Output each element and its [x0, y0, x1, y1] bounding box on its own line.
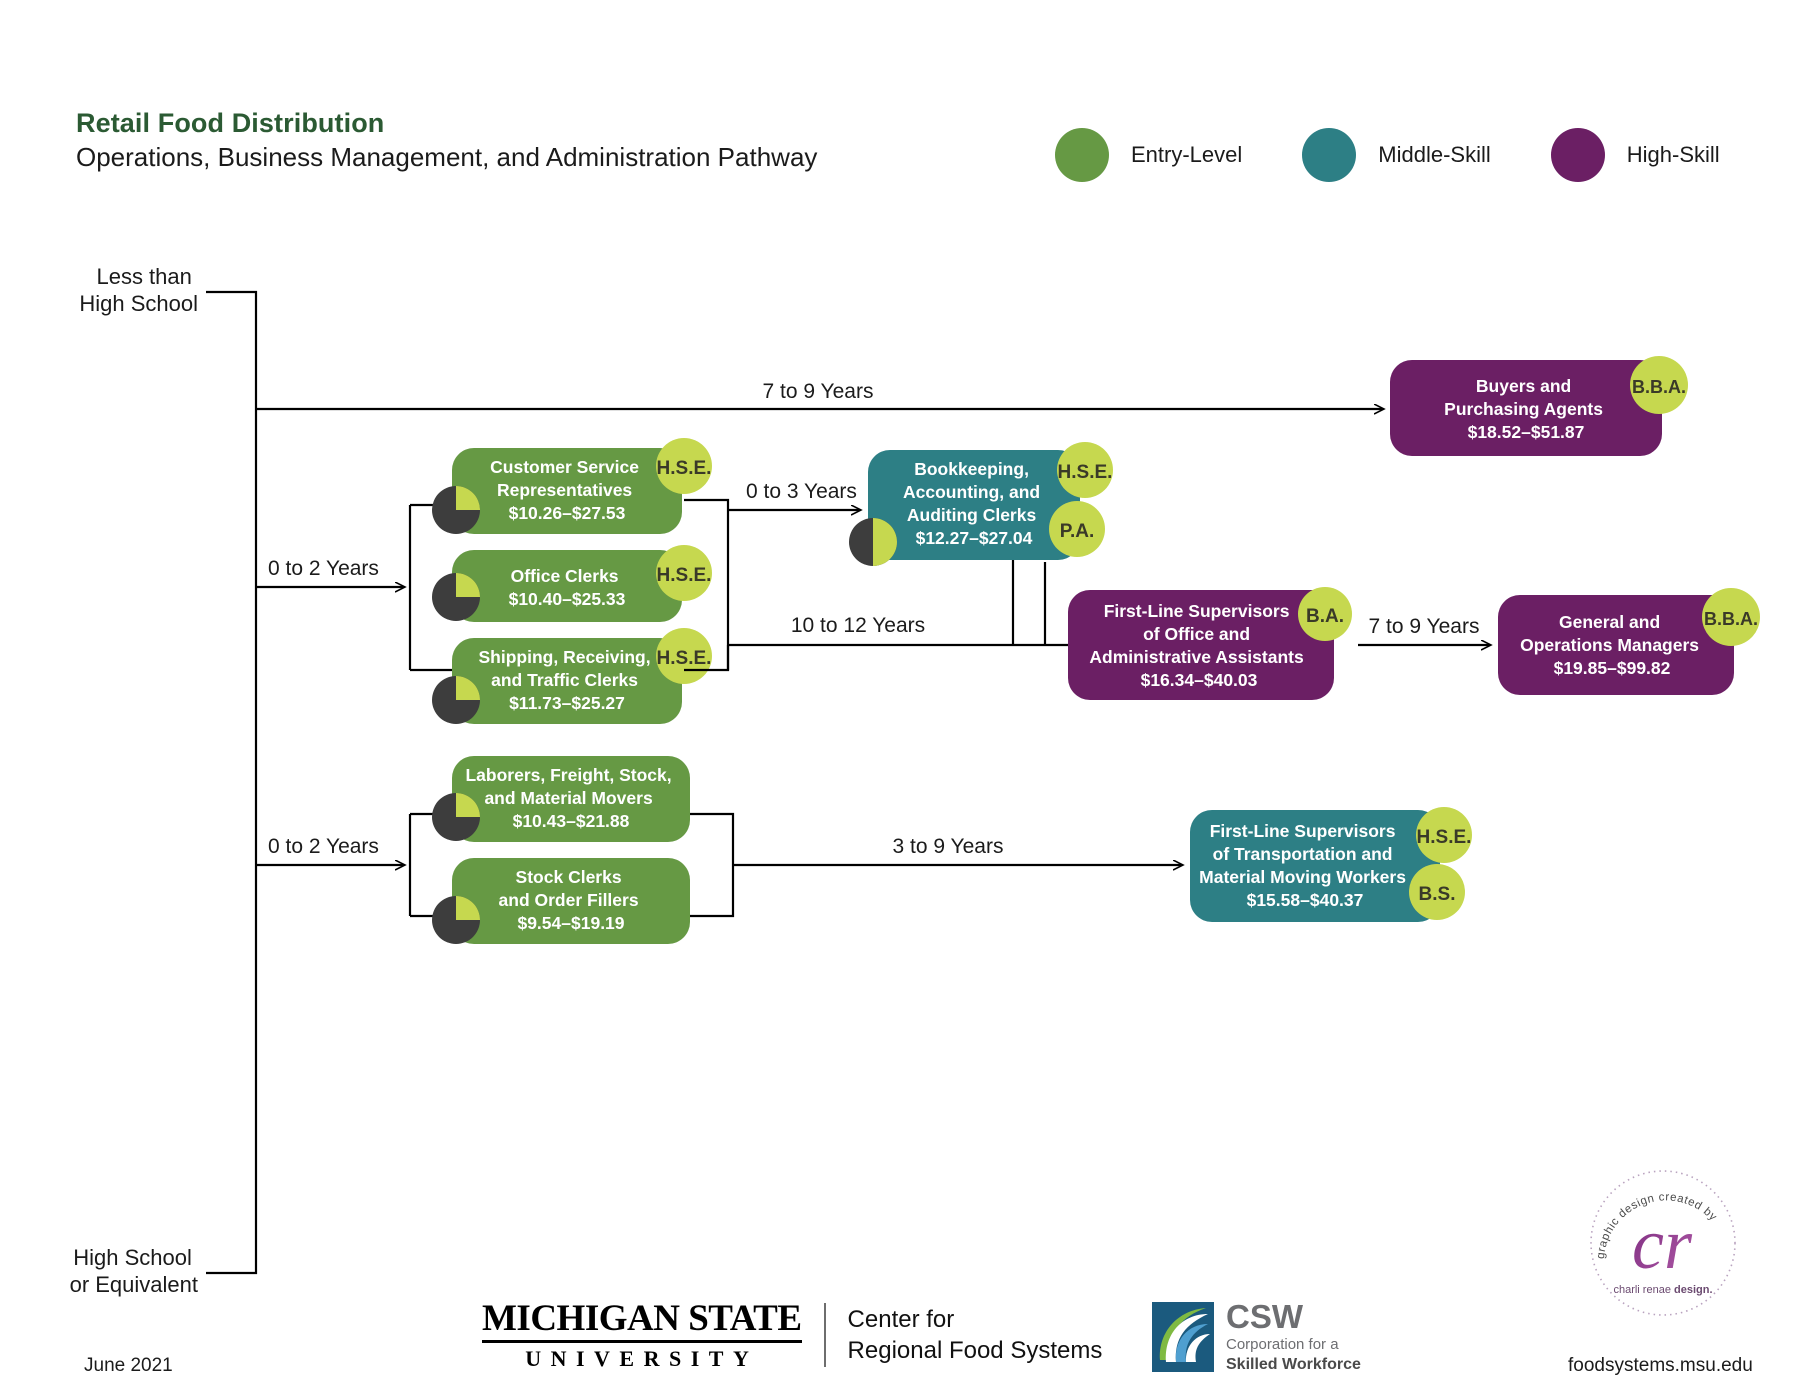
edge-less-than-hs-to-buyers: 7 to 9 Years	[256, 380, 1383, 409]
badge-label-hse-customer-service-representatives: H.S.E.	[657, 458, 712, 479]
designer-name: charli renae design.	[1613, 1284, 1712, 1296]
education-label-high-school-or-equivalent: High School or Equivalent	[70, 1245, 198, 1297]
badge-label-pa-bookkeeping: P.A.	[1060, 521, 1095, 542]
node-first-line-supervisors-of-transportation-and-material-moving-workers[interactable]: H.S.E. B.S. First-Line Supervisors of Tr…	[1190, 807, 1472, 922]
csw-logo: CSW Corporation for a Skilled Workforce	[1152, 1300, 1361, 1374]
page-title: Retail Food Distribution	[76, 108, 817, 139]
pie-chart-bookkeeping-accounting-and-auditing-clerks	[849, 518, 897, 566]
edge-label-0-to-2-years-lower: 0 to 2 Years	[268, 835, 379, 858]
pie-chart-laborers-freight-stock-and-material-movers	[432, 793, 480, 841]
node-stock-clerks-and-order-fillers[interactable]: Stock Clerks and Order Fillers $9.54–$19…	[432, 858, 690, 944]
node-shipping-receiving-and-traffic-clerks[interactable]: H.S.E. Shipping, Receiving, and Traffic …	[432, 628, 712, 724]
legend-label-entry-level: Entry-Level	[1131, 142, 1242, 168]
pathway-infographic: Retail Food Distribution Operations, Bus…	[0, 0, 1812, 1392]
badge-label-bba-gom: B.B.A.	[1704, 609, 1758, 629]
csw-tagline-line1: Corporation for a	[1226, 1336, 1361, 1355]
crfs-name: Center for Regional Food Systems	[848, 1304, 1103, 1366]
badge-label-hse-shipping-receiving-and-traffic-clerks: H.S.E.	[657, 648, 712, 669]
msu-logo: MICHIGAN STATE UNIVERSITY Center for Reg…	[482, 1300, 1102, 1370]
legend-label-high-skill: High-Skill	[1627, 142, 1720, 168]
page-subtitle: Operations, Business Management, and Adm…	[76, 143, 817, 173]
node-label-stock-clerks-and-order-fillers: Stock Clerks and Order Fillers $9.54–$19…	[499, 867, 644, 933]
node-general-and-operations-managers[interactable]: B.B.A. General and Operations Managers $…	[1498, 588, 1760, 695]
education-label-less-than-high-school: Less than High School	[79, 264, 198, 316]
pie-chart-shipping-receiving-and-traffic-clerks	[432, 676, 480, 724]
footer-date: June 2021	[84, 1355, 173, 1377]
legend-label-middle-skill: Middle-Skill	[1378, 142, 1490, 168]
badge-label-bs-flst: B.S.	[1419, 884, 1456, 905]
edge-education-to-lower-entry: 0 to 2 Years	[256, 835, 404, 865]
node-customer-service-representatives[interactable]: H.S.E. Customer Service Representatives …	[432, 438, 712, 534]
msu-wordmark-bottom: UNIVERSITY	[482, 1343, 802, 1370]
edge-label-10-to-12-years: 10 to 12 Years	[791, 614, 925, 637]
badge-label-hse-office-clerks: H.S.E.	[657, 565, 712, 586]
node-office-clerks[interactable]: H.S.E. Office Clerks $10.40–$25.33	[432, 545, 712, 622]
designer-monogram: cr	[1632, 1204, 1693, 1284]
badge-label-hse-flst: H.S.E.	[1417, 827, 1472, 848]
page-header: Retail Food Distribution Operations, Bus…	[76, 108, 817, 173]
badge-label-hse-bookkeeping: H.S.E.	[1058, 462, 1113, 483]
node-first-line-supervisors-of-office-and-administrative-assistants[interactable]: B.A. First-Line Supervisors of Office an…	[1068, 587, 1352, 700]
msu-wordmark-top: MICHIGAN STATE	[482, 1300, 802, 1343]
career-pathway-diagram: Less than High School High School or Equ…	[0, 170, 1812, 1350]
edge-label-7-to-9-years-buyers: 7 to 9 Years	[763, 380, 874, 403]
node-bookkeeping-accounting-and-auditing-clerks[interactable]: H.S.E. P.A. Bookkeeping, Accounting, and…	[849, 442, 1113, 566]
edge-label-0-to-2-years-upper: 0 to 2 Years	[268, 557, 379, 580]
csw-abbreviation: CSW	[1226, 1300, 1361, 1333]
badge-label-bba-buyers: B.B.A.	[1632, 377, 1686, 397]
csw-swirl-icon	[1152, 1302, 1214, 1372]
node-laborers-freight-stock-and-material-movers[interactable]: Laborers, Freight, Stock, and Material M…	[432, 756, 690, 842]
node-label-customer-service-representatives: Customer Service Representatives $10.26–…	[490, 457, 644, 523]
edge-education-to-upper-entry: 0 to 2 Years	[256, 557, 404, 587]
footer-url[interactable]: foodsystems.msu.edu	[1568, 1355, 1753, 1377]
edge-label-7-to-9-years-gom: 7 to 9 Years	[1369, 615, 1480, 638]
csw-tagline-line2: Skilled Workforce	[1226, 1355, 1361, 1374]
node-buyers-and-purchasing-agents[interactable]: B.B.A. Buyers and Purchasing Agents $18.…	[1390, 356, 1688, 456]
edge-label-3-to-9-years: 3 to 9 Years	[893, 835, 1004, 858]
pie-chart-office-clerks	[432, 573, 480, 621]
msu-wordmark: MICHIGAN STATE UNIVERSITY	[482, 1300, 802, 1370]
edge-lower-entry-to-flst: 3 to 9 Years	[733, 835, 1182, 865]
badge-label-ba-flso: B.A.	[1306, 606, 1344, 627]
bracket-lower-entry-out	[690, 814, 733, 916]
pie-chart-customer-service-representatives	[432, 486, 480, 534]
logo-divider	[824, 1303, 826, 1367]
education-spine	[206, 292, 256, 1273]
edge-label-0-to-3-years: 0 to 3 Years	[746, 480, 857, 503]
edge-flso-to-general-operations-managers: 7 to 9 Years	[1358, 615, 1490, 645]
edge-upper-entry-to-bookkeeping: 0 to 3 Years	[728, 480, 860, 510]
csw-text: CSW Corporation for a Skilled Workforce	[1226, 1300, 1361, 1374]
pie-chart-stock-clerks-and-order-fillers	[432, 896, 480, 944]
designer-credit-stamp: graphic design created by cr charli rena…	[1582, 1162, 1744, 1324]
